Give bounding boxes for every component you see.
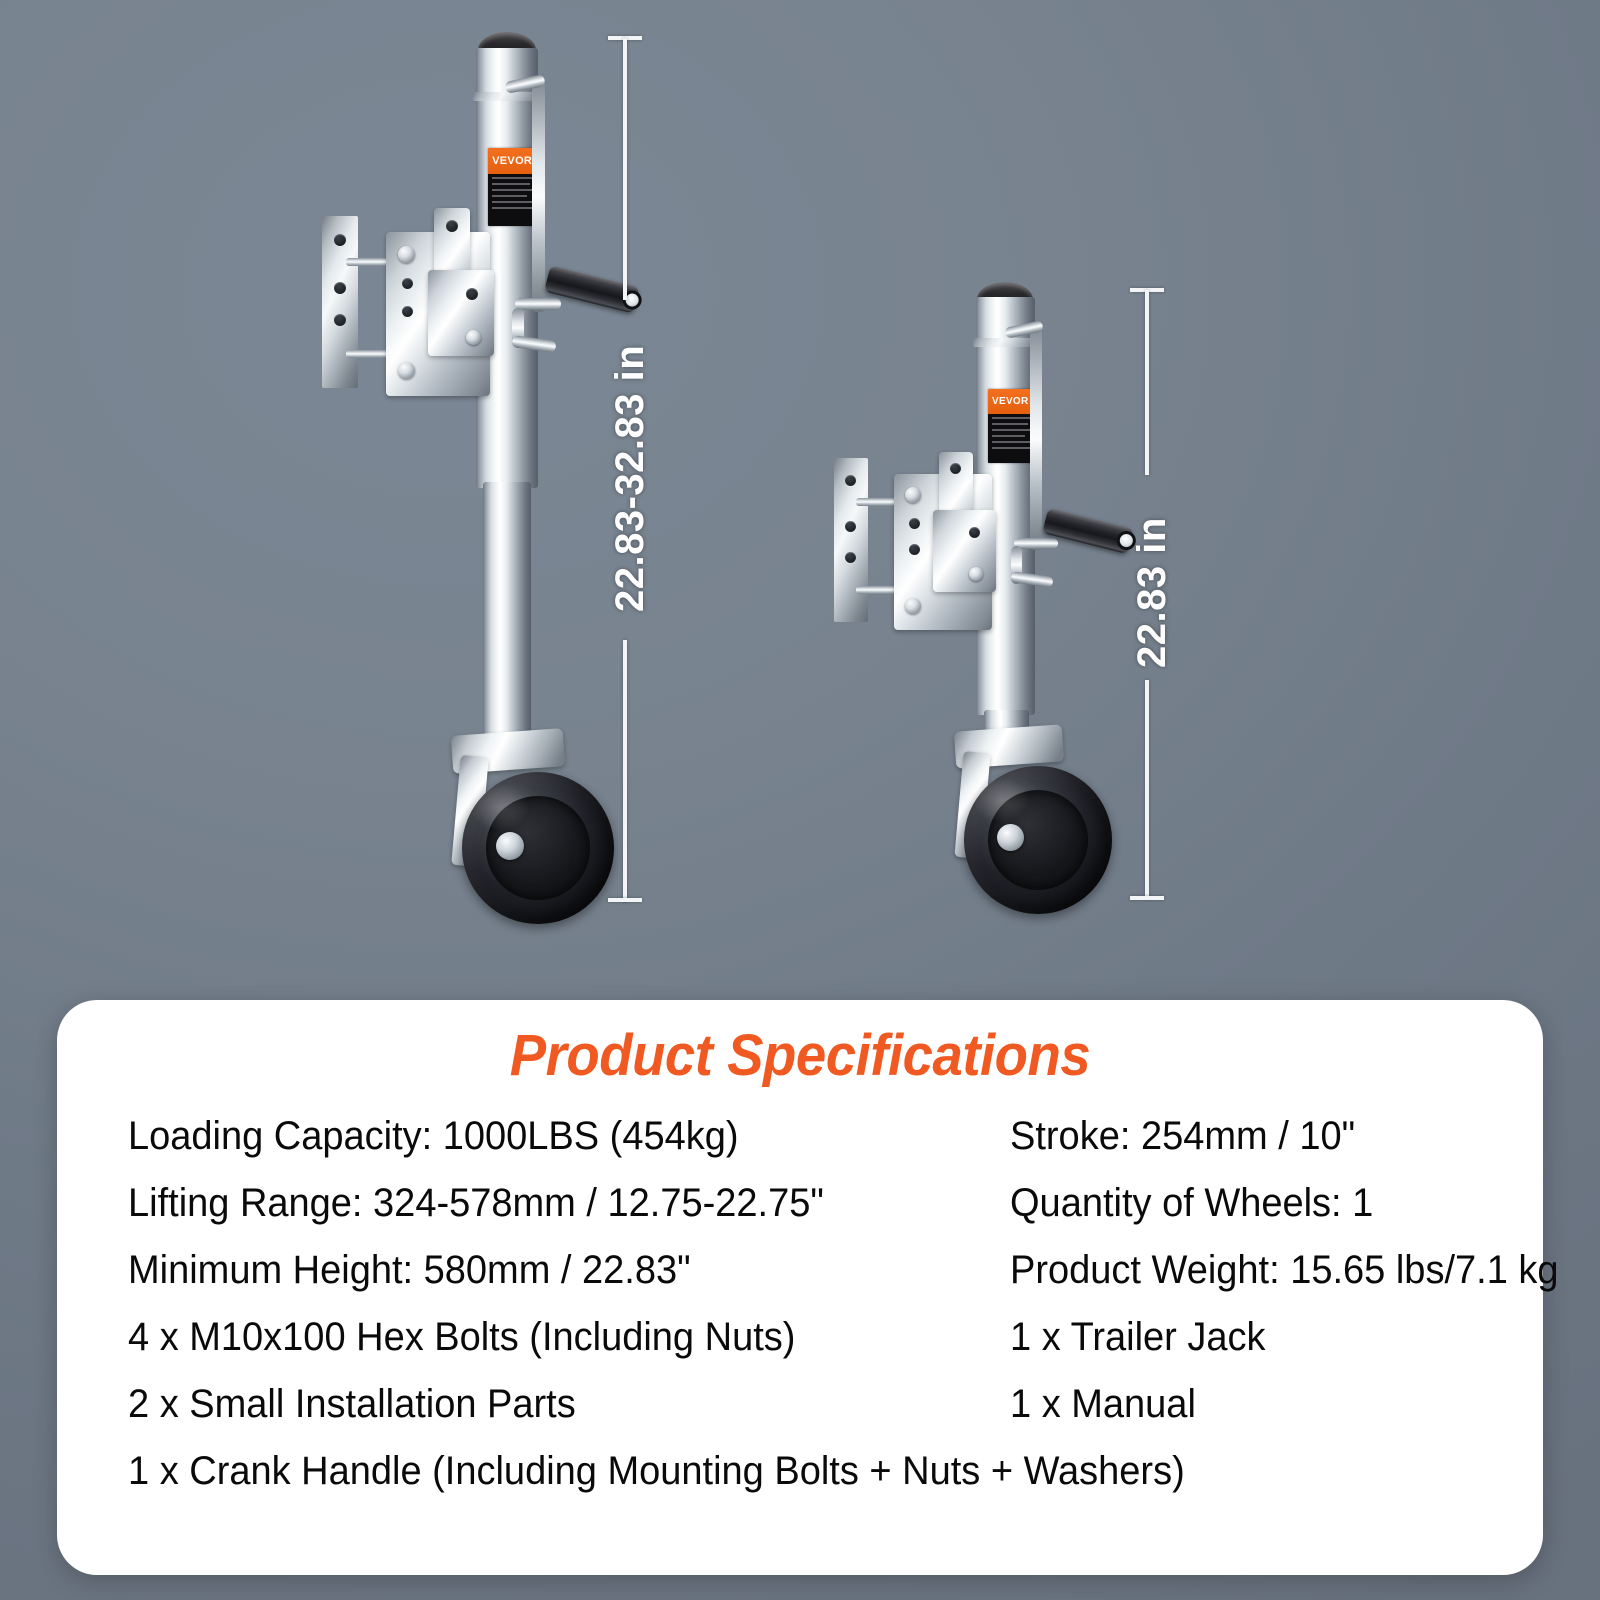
spec-row: 4 x M10x100 Hex Bolts (Including Nuts) 1… — [128, 1313, 1529, 1380]
spec-row: Loading Capacity: 1000LBS (454kg) Stroke… — [128, 1112, 1529, 1179]
page-title: Product Specifications — [102, 1022, 1499, 1089]
spec-row: 2 x Small Installation Parts 1 x Manual — [128, 1380, 1529, 1447]
spec-crank-handle: 1 x Crank Handle (Including Mounting Bol… — [128, 1447, 1185, 1495]
mount-bolt — [905, 598, 921, 614]
vevor-brand-text: VEVOR — [492, 155, 532, 167]
clamp-hole — [969, 527, 980, 538]
dimension-cap-bottom — [1130, 896, 1164, 900]
product-specifications-card: Product Specifications Loading Capacity:… — [57, 1000, 1543, 1575]
dimension-line-lower — [623, 640, 627, 902]
wheel-hub-bolt — [496, 832, 524, 860]
spec-installation-parts: 2 x Small Installation Parts — [128, 1380, 576, 1428]
bracket-tab-hole — [950, 463, 961, 474]
mount-hole — [845, 521, 856, 532]
spec-row: Lifting Range: 324-578mm / 12.75-22.75" … — [128, 1179, 1529, 1246]
spec-minimum-height: Minimum Height: 580mm / 22.83" — [128, 1246, 691, 1294]
caster-wheel — [462, 772, 614, 924]
tube-collar — [973, 338, 1038, 347]
spec-trailer-jack: 1 x Trailer Jack — [1010, 1313, 1266, 1361]
inner-tube — [483, 482, 531, 744]
mount-bolt — [398, 246, 415, 263]
spec-product-weight: Product Weight: 15.65 lbs/7.1 kg — [1010, 1246, 1559, 1294]
crank-swing-arm — [532, 82, 545, 312]
spec-manual: 1 x Manual — [1010, 1380, 1196, 1428]
mount-hole — [334, 282, 346, 294]
spec-lifting-range: Lifting Range: 324-578mm / 12.75-22.75" — [128, 1179, 824, 1227]
spec-row: 1 x Crank Handle (Including Mounting Bol… — [128, 1447, 1529, 1514]
spec-loading-capacity: Loading Capacity: 1000LBS (454kg) — [128, 1112, 739, 1160]
caster-wheel — [964, 766, 1112, 914]
mount-hole — [845, 552, 856, 563]
plate-hole — [909, 518, 920, 529]
mount-hole — [334, 234, 346, 246]
bracket-tab-hole — [446, 220, 458, 232]
trailer-jack-extended: VEVOR — [300, 20, 660, 920]
tube-collar — [473, 92, 541, 101]
dimension-label-retracted: 22.83 in — [1130, 517, 1175, 668]
dimension-line-upper — [623, 38, 627, 300]
trailer-jack-retracted: VEVOR — [812, 272, 1152, 920]
product-infographic: VEVOR — [0, 0, 1600, 1600]
plate-hole — [909, 544, 920, 555]
plate-hole — [402, 278, 413, 289]
specifications-grid: Loading Capacity: 1000LBS (454kg) Stroke… — [128, 1112, 1529, 1557]
spec-row: Minimum Height: 580mm / 22.83" Product W… — [128, 1246, 1529, 1313]
mount-bolt — [905, 487, 921, 503]
clamp-hole — [466, 288, 478, 300]
crank-swing-arm — [1030, 328, 1042, 550]
clamp-block — [428, 270, 494, 356]
dimension-line-upper — [1145, 290, 1149, 475]
clamp-bolt — [969, 567, 983, 581]
spec-quantity-of-wheels: Quantity of Wheels: 1 — [1010, 1179, 1373, 1227]
mount-bolt — [398, 362, 415, 379]
dimension-cap-bottom — [608, 898, 642, 902]
dimension-line-lower — [1145, 680, 1149, 898]
wheel-hub-bolt — [997, 824, 1024, 851]
spec-stroke: Stroke: 254mm / 10" — [1010, 1112, 1355, 1160]
dimension-label-extended: 22.83-32.83 in — [608, 345, 653, 612]
clamp-block — [933, 510, 996, 592]
crank-elbow — [515, 298, 561, 310]
mount-hole — [334, 314, 346, 326]
spec-hex-bolts: 4 x M10x100 Hex Bolts (Including Nuts) — [128, 1313, 795, 1361]
vevor-brand-text: VEVOR — [992, 396, 1029, 407]
plate-hole — [402, 306, 413, 317]
mount-hole — [845, 475, 856, 486]
clamp-bolt — [466, 330, 481, 345]
